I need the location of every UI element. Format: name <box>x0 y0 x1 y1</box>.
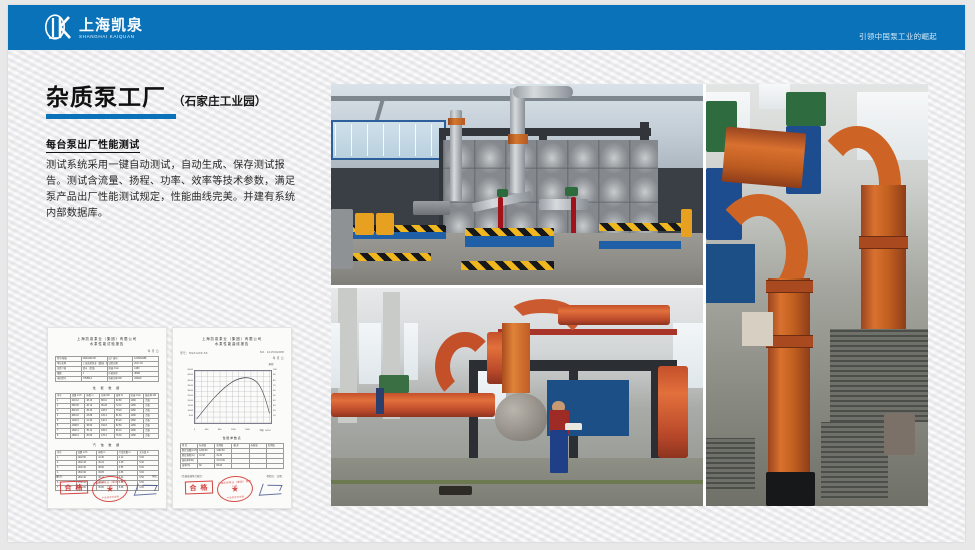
photo-orange-piping-worker[interactable] <box>331 288 703 506</box>
tick: 1200 <box>231 429 236 432</box>
worker-clipboard <box>565 423 582 430</box>
curve-x-axis: 0 400 800 1200 1600 流量（m³/h） <box>194 429 272 432</box>
brand-logo[interactable]: 上海凯泉 SHANGHAI KAIQUAN <box>44 14 143 42</box>
table-row: 电机型号 Y355M-4 电机功率 kW 220kW <box>56 377 159 382</box>
green-valve-actuator <box>379 375 409 392</box>
cell: 电机功率 kW <box>107 377 133 382</box>
window-panel <box>331 323 340 388</box>
cell: 30.80 <box>85 434 100 439</box>
steel-beam <box>439 128 651 136</box>
cell: 上海凯泉泵业（集团）有限公司 <box>81 362 107 367</box>
seal-bottom-text: 产品检验专用章 <box>218 493 252 499</box>
section-heading: 每台泵出厂性能测试 <box>46 136 140 153</box>
horizontal-pipe <box>539 199 587 210</box>
valve-actuator <box>565 187 578 196</box>
doc2-date-label: 年 月 日 <box>180 356 284 360</box>
curve-x-axis-label: 流量（m³/h） <box>259 429 271 432</box>
tick: 1600 <box>245 429 250 432</box>
cell <box>266 464 283 469</box>
left-content-column: 杂质泵工厂 （石家庄工业园） 每台泵出厂性能测试 测试系统采用一键自动测试，自动… <box>46 84 308 222</box>
kaiquan-k-mark-icon <box>44 14 74 42</box>
pump-motor <box>413 201 450 215</box>
doc-pump-test-report[interactable]: 上海凯泉泵业（集团）有限公司 水泵性能试验报告 年 月 日 型号/规格 NSZ1… <box>47 327 167 509</box>
photo-test-hall-steel-tanks[interactable] <box>331 84 703 285</box>
performance-curve-chart: 扬程 50.00 45.00 40.00 35.00 30.00 25.00 2… <box>180 366 284 432</box>
hazard-stripe-edge <box>599 223 681 231</box>
pipe-flange-ring <box>859 236 908 249</box>
tick: 5.00 <box>181 414 193 419</box>
qualified-stamp: 合 格 <box>60 481 88 495</box>
doc1-table1-caption: 性 能 数 据 <box>55 386 159 390</box>
signature-stroke-icon <box>134 482 161 496</box>
handwritten-signature <box>136 483 158 495</box>
doc2-stamps: 合 格 上海凯泉泵业（集团）有限公司 产品检验专用章 <box>181 476 287 502</box>
cell: 1800.6 <box>70 434 85 439</box>
yellow-equipment <box>681 209 692 237</box>
transfer-cart-deck <box>599 241 681 249</box>
company-seal-stamp: 上海凯泉泵业（集团）有限公司 产品检验专用章 <box>216 475 254 503</box>
pipe-coupling <box>508 134 528 144</box>
tick: 400 <box>205 429 208 432</box>
page-title-main: 杂质泵工厂 <box>46 84 166 110</box>
doc1-title-line2: 水泵性能试验报告 <box>55 342 159 347</box>
curve-y-right-axis: 100 90 80 70 60 50 40 30 20 10 <box>273 368 284 419</box>
valve-stem <box>376 388 384 414</box>
section-body-text: 测试系统采用一键自动测试，自动生成、保存测试报告。测试含流量、扬程、功率、效率等… <box>46 158 304 222</box>
pipe-flange-ring <box>766 335 813 348</box>
qualified-stamp: 合 格 <box>185 481 213 495</box>
signature-stroke-icon <box>259 482 286 496</box>
cell: 176.2 <box>100 434 115 439</box>
spare-pipe-spool <box>884 413 915 455</box>
photo-collage <box>331 84 928 506</box>
cell: 额定流量(m³/h) <box>181 449 198 454</box>
cell: 1480 <box>129 434 144 439</box>
blue-machine-unit <box>706 244 755 303</box>
tick: 0 <box>194 429 195 432</box>
hazard-stripe-edge <box>465 228 554 236</box>
doc1-performance-table: 序号 流量 m³/h 扬程 m 功率 kW 效率 % 转速 r/min 轴功率 … <box>55 393 159 439</box>
page-title-sub: （石家庄工业园） <box>173 93 267 109</box>
floor-grating <box>821 422 888 498</box>
office-glass-window <box>331 120 446 160</box>
logo-text-en: SHANGHAI KAIQUAN <box>79 34 143 40</box>
pipe-flange-ring <box>766 280 813 293</box>
floor-opening <box>766 472 815 506</box>
tick: 10 <box>273 414 284 419</box>
doc2-serial-label: NO. 12150G688 <box>260 351 284 355</box>
overhead-red-pipe <box>558 305 670 325</box>
window-panel <box>404 323 419 380</box>
cell: 电机型号 <box>56 377 82 382</box>
table-row: 8 1800.6 30.80 176.2 76.30 1480 合格 <box>56 434 159 439</box>
cell: 83.20 <box>215 464 232 469</box>
photo-elbow-pipes[interactable] <box>706 84 928 506</box>
cell: 76.30 <box>114 434 129 439</box>
seal-top-text: 上海凯泉泵业（集团）有限公司 <box>217 478 251 488</box>
green-valve-actuator <box>786 92 826 126</box>
doc1-info-table: 型号/规格 NSZ1200-50 出厂编号 12150G688 单位名称 上海凯… <box>55 356 159 382</box>
yellow-equipment <box>355 213 374 235</box>
handwritten-signature <box>261 483 283 495</box>
doc2-parameter-table: 项 目 标准值 实测值 偏 差 标准值 实测值 额定流量(m³/h) 1200.… <box>180 443 284 469</box>
pipe-coupling <box>448 118 464 124</box>
cell: 220kW <box>133 377 159 382</box>
floor-grating <box>706 438 755 489</box>
material-crate <box>742 312 773 346</box>
table-row: 效率(%) 82 83.20 <box>181 464 284 469</box>
cell: 8 <box>56 434 71 439</box>
company-seal-stamp: 上海凯泉泵业（集团）有限公司 产品检验专用章 <box>91 475 129 503</box>
header-slogan: 引领中国泵工业的崛起 <box>859 31 937 42</box>
page-title: 杂质泵工厂 （石家庄工业园） <box>46 84 308 110</box>
doc2-model-label: 型号：NSZ1200-50 <box>180 351 208 355</box>
yellow-equipment <box>376 213 395 235</box>
doc2-table-caption: 性能参数表 <box>180 436 284 440</box>
window-panel <box>359 323 381 384</box>
slide-root: 上海凯泉 SHANGHAI KAIQUAN 引领中国泵工业的崛起 杂质泵工厂 （… <box>0 0 975 550</box>
red-downcomer-pipe <box>658 366 688 458</box>
red-pipe-elbow <box>435 332 495 402</box>
cell: Y355M-4 <box>81 377 107 382</box>
seal-top-text: 上海凯泉泵业（集团）有限公司 <box>92 478 126 488</box>
logo-text-cn: 上海凯泉 <box>79 17 143 34</box>
overhead-pipe <box>513 86 573 98</box>
doc1-stamps: 合 格 上海凯泉泵业（集团）有限公司 产品检验专用章 <box>56 476 162 502</box>
doc1-date-label: 年 月 日 <box>55 349 159 353</box>
seal-bottom-text: 产品检验专用章 <box>93 493 127 499</box>
title-underline-rule <box>46 114 176 119</box>
doc2-title-line2: 水泵性能曲线报告 <box>180 342 284 347</box>
worker-trousers <box>550 430 569 474</box>
cell: 82 <box>198 464 215 469</box>
curve-legend: 扬程 <box>269 362 274 366</box>
floor-grating <box>830 329 928 422</box>
valve-actuator <box>497 189 508 197</box>
cell <box>249 464 266 469</box>
document-thumbnails: 上海凯泉泵业（集团）有限公司 水泵性能试验报告 年 月 日 型号/规格 NSZ1… <box>47 327 292 509</box>
tick: 800 <box>218 429 221 432</box>
doc-pump-performance-curve[interactable]: 上海凯泉泵业（集团）有限公司 水泵性能曲线报告 型号：NSZ1200-50 NO… <box>172 327 292 509</box>
curve-y-left-axis: 50.00 45.00 40.00 35.00 30.00 25.00 20.0… <box>181 368 193 419</box>
hazard-stripe-edge <box>342 253 431 261</box>
cell: 效率(%) <box>181 464 198 469</box>
cell <box>232 464 249 469</box>
floor-line-marking <box>331 480 703 484</box>
floor-debris <box>439 486 472 495</box>
doc1-table2-caption: 汽 蚀 数 据 <box>55 443 159 447</box>
hazard-stripe-edge <box>461 261 554 270</box>
cell: 合格 <box>144 434 159 439</box>
left-vertical-pipe <box>768 278 810 497</box>
curve-plot-grid <box>194 370 272 424</box>
slurry-pump-casing <box>495 393 547 441</box>
header-bar: 上海凯泉 SHANGHAI KAIQUAN 引领中国泵工业的崛起 <box>8 5 965 50</box>
control-cabinet <box>331 209 353 269</box>
upper-horizontal-pipe <box>722 127 806 189</box>
